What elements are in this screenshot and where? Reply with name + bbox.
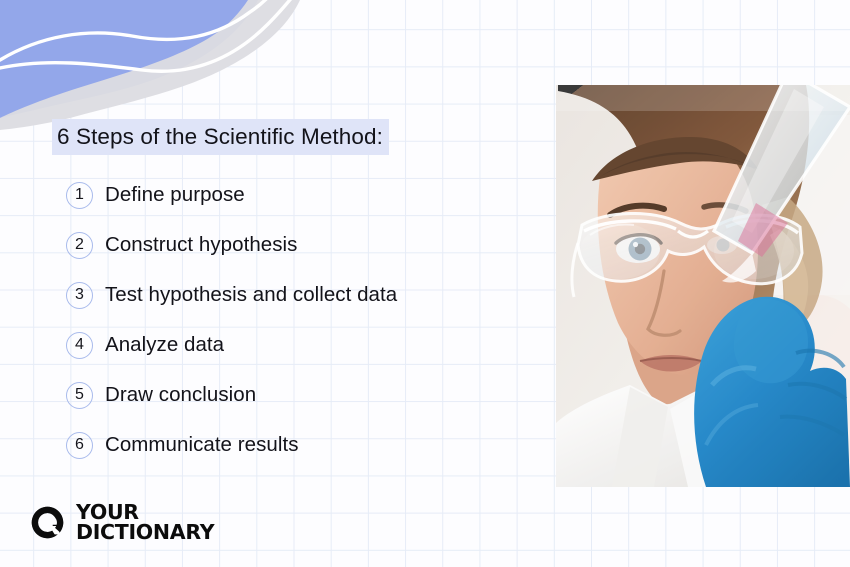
- step-number-badge: 4: [66, 332, 93, 359]
- list-item: 6 Communicate results: [66, 420, 536, 470]
- step-label: Construct hypothesis: [105, 233, 297, 258]
- step-number-badge: 1: [66, 182, 93, 209]
- list-item: 2 Construct hypothesis: [66, 220, 536, 270]
- list-item: 5 Draw conclusion: [66, 370, 536, 420]
- infographic-canvas: 6 Steps of the Scientific Method: 1 Defi…: [0, 0, 850, 567]
- logo-wordmark: YOUR DICTIONARY: [76, 503, 214, 542]
- list-item: 4 Analyze data: [66, 320, 536, 370]
- steps-list: 1 Define purpose 2 Construct hypothesis …: [66, 170, 536, 470]
- step-number-badge: 3: [66, 282, 93, 309]
- step-label: Analyze data: [105, 333, 224, 358]
- q-ring-icon: [30, 505, 65, 540]
- step-number-badge: 2: [66, 232, 93, 259]
- page-title-wrapper: 6 Steps of the Scientific Method:: [52, 119, 389, 155]
- step-number-badge: 5: [66, 382, 93, 409]
- logo-line-2: DICTIONARY: [76, 523, 214, 543]
- list-item: 1 Define purpose: [66, 170, 536, 220]
- step-label: Communicate results: [105, 433, 299, 458]
- page-title: 6 Steps of the Scientific Method:: [52, 119, 389, 155]
- step-label: Define purpose: [105, 183, 245, 208]
- list-item: 3 Test hypothesis and collect data: [66, 270, 536, 320]
- step-number-badge: 6: [66, 432, 93, 459]
- step-label: Test hypothesis and collect data: [105, 283, 397, 308]
- scientist-photo: [556, 85, 850, 487]
- wave-decoration: [0, 0, 340, 130]
- step-label: Draw conclusion: [105, 383, 256, 408]
- yourdictionary-logo[interactable]: YOUR DICTIONARY: [30, 503, 214, 542]
- scientist-photo-illustration: [556, 85, 850, 487]
